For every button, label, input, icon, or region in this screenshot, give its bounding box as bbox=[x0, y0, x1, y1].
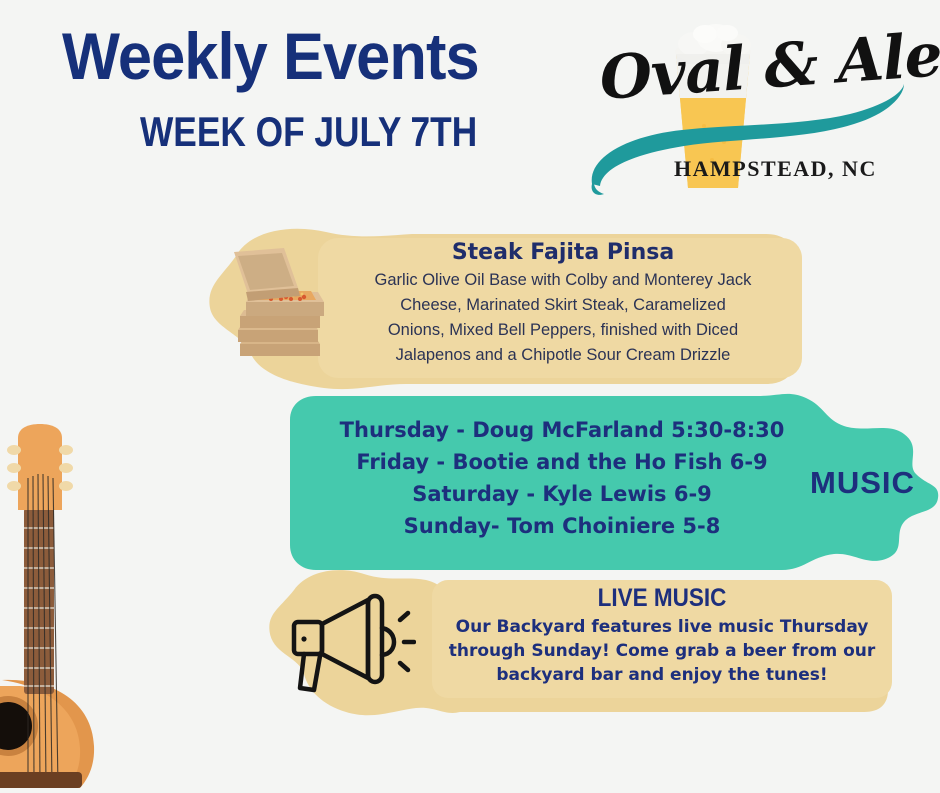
music-tag-label: MUSIC bbox=[810, 465, 915, 501]
guitar-decoration bbox=[0, 420, 158, 788]
food-special-card: Steak Fajita Pinsa Garlic Olive Oil Base… bbox=[206, 222, 802, 394]
schedule-line: Thursday - Doug McFarland 5:30-8:30 bbox=[302, 414, 822, 446]
pizza-boxes-icon bbox=[224, 244, 336, 362]
food-desc-line: Jalapenos and a Chipotle Sour Cream Driz… bbox=[328, 343, 798, 368]
food-desc-line: Garlic Olive Oil Base with Colby and Mon… bbox=[328, 268, 798, 293]
schedule-line: Friday - Bootie and the Ho Fish 6-9 bbox=[302, 446, 822, 478]
live-music-text: LIVE MUSIC Our Backyard features live mu… bbox=[436, 584, 888, 687]
megaphone-icon bbox=[288, 592, 416, 694]
live-music-card: LIVE MUSIC Our Backyard features live mu… bbox=[264, 566, 892, 718]
live-music-line: through Sunday! Come grab a beer from ou… bbox=[436, 639, 888, 663]
page-subtitle: WEEK OF JULY 7TH bbox=[140, 108, 477, 156]
live-music-line: backyard bar and enjoy the tunes! bbox=[436, 663, 888, 687]
header: Weekly Events WEEK OF JULY 7TH bbox=[0, 0, 600, 190]
page-title: Weekly Events bbox=[62, 18, 479, 94]
brand-logo: Oval & Ale HAMPSTEAD, NC bbox=[586, 8, 936, 198]
schedule-line: Sunday- Tom Choiniere 5-8 bbox=[302, 510, 822, 542]
live-music-line: Our Backyard features live music Thursda… bbox=[436, 615, 888, 639]
schedule-lines: Thursday - Doug McFarland 5:30-8:30 Frid… bbox=[302, 414, 822, 542]
schedule-line: Saturday - Kyle Lewis 6-9 bbox=[302, 478, 822, 510]
live-music-title: LIVE MUSIC bbox=[459, 584, 866, 613]
food-text: Steak Fajita Pinsa Garlic Olive Oil Base… bbox=[328, 240, 798, 368]
food-desc-line: Onions, Mixed Bell Peppers, finished wit… bbox=[328, 318, 798, 343]
food-desc-line: Cheese, Marinated Skirt Steak, Carameliz… bbox=[328, 293, 798, 318]
food-title: Steak Fajita Pinsa bbox=[328, 240, 798, 265]
logo-location: HAMPSTEAD, NC bbox=[674, 156, 877, 182]
acoustic-guitar-icon bbox=[0, 420, 158, 788]
